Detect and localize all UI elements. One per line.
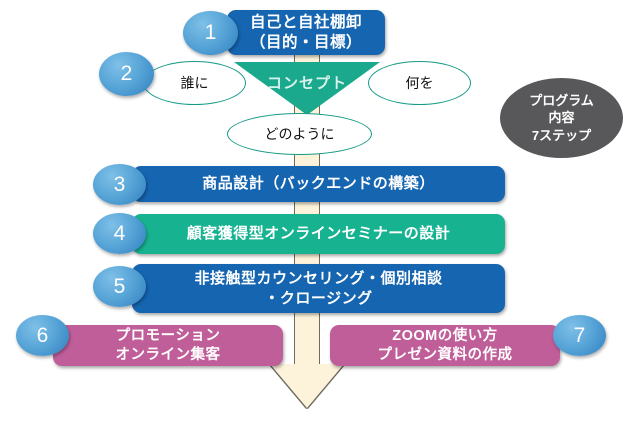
step-7-label-line1: ZOOMの使い方 <box>378 327 513 346</box>
step-3-bar: 商品設計（バックエンドの構築） <box>132 166 505 202</box>
step-5-bar: 非接触型カウンセリング・個別相談 ・クロージング <box>132 264 505 313</box>
step-6-label-line1: プロモーション <box>116 327 221 346</box>
step-3-number: 3 <box>114 173 126 197</box>
down-arrow-head <box>270 364 344 408</box>
step-7-number-badge: 7 <box>553 315 606 356</box>
concept-who-label: 誰に <box>181 73 209 93</box>
step-1-label-line1: 自己と自社棚卸 <box>250 13 362 33</box>
step-7-bar: ZOOMの使い方 プレゼン資料の作成 <box>330 325 560 366</box>
step-1-bar: 自己と自社棚卸 （目的・目標） <box>227 10 385 55</box>
step-3-number-badge: 3 <box>93 164 146 205</box>
step-6-label-line2: オンライン集客 <box>116 346 221 365</box>
step-5-label-line2: ・クロージング <box>194 289 442 308</box>
step-4-label: 顧客獲得型オンラインセミナーの設計 <box>187 224 451 243</box>
step-2-number: 2 <box>121 62 133 86</box>
program-info-line1: プログラム <box>529 92 594 109</box>
step-3-label: 商品設計（バックエンドの構築） <box>202 174 435 193</box>
step-2-number-badge: 2 <box>99 52 154 96</box>
concept-how-label: どのように <box>265 124 335 144</box>
concept-label: コンセプト <box>234 72 380 93</box>
step-4-number: 4 <box>114 222 126 246</box>
step-5-number-badge: 5 <box>93 266 146 307</box>
program-info-ellipse: プログラム 内容 7ステップ <box>500 78 623 158</box>
step-1-number: 1 <box>205 21 217 45</box>
diagram-canvas: 自己と自社棚卸 （目的・目標） コンセプト 誰に 何を どのように プログラム … <box>0 0 640 427</box>
step-4-bar: 顧客獲得型オンラインセミナーの設計 <box>132 214 505 254</box>
step-5-number: 5 <box>114 275 126 299</box>
step-6-number: 6 <box>37 324 49 348</box>
step-5-label-line1: 非接触型カウンセリング・個別相談 <box>194 269 442 288</box>
program-info-line2: 内容 <box>548 109 574 126</box>
step-4-number-badge: 4 <box>93 213 146 254</box>
concept-what-ellipse: 何を <box>368 61 471 105</box>
step-7-label-line2: プレゼン資料の作成 <box>378 346 513 365</box>
program-info-line3: 7ステップ <box>532 127 591 144</box>
concept-how-ellipse: どのように <box>227 113 372 155</box>
concept-what-label: 何を <box>406 73 434 93</box>
step-7-number: 7 <box>574 324 586 348</box>
concept-who-ellipse: 誰に <box>143 61 246 105</box>
step-1-number-badge: 1 <box>183 11 238 55</box>
step-6-bar: プロモーション オンライン集客 <box>53 325 283 366</box>
step-6-number-badge: 6 <box>16 315 69 356</box>
step-1-label-line2: （目的・目標） <box>250 33 362 53</box>
